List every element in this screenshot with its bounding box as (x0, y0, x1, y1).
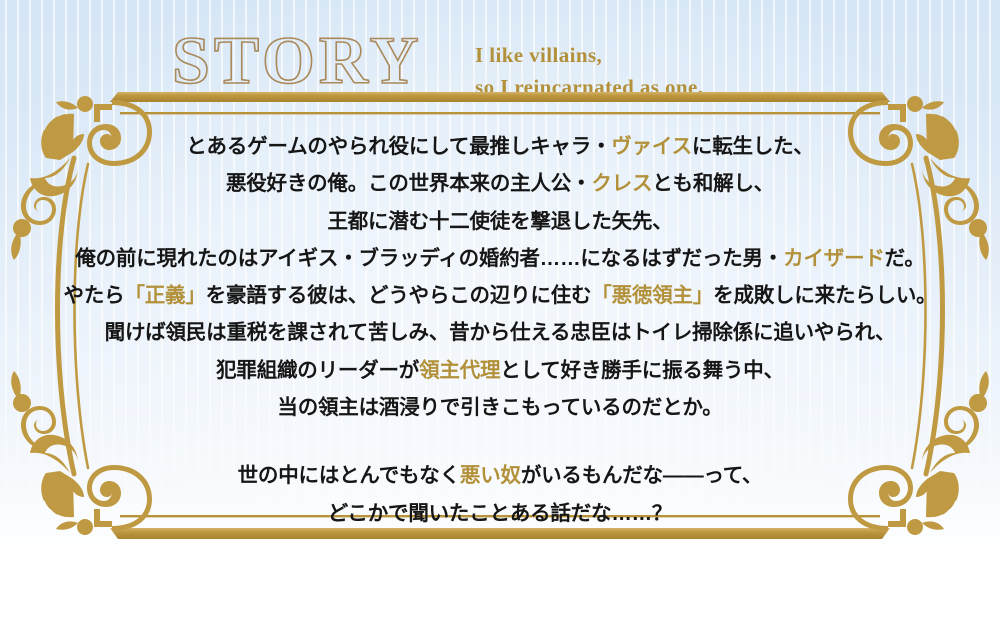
line-8: 当の領主は酒浸りで引きこもっているのだとか。 (60, 389, 940, 426)
line-3: 王都に潜む十二使徒を撃退した矢先、 (60, 203, 940, 240)
highlighted-term: 「正義」 (124, 284, 205, 307)
highlighted-term: 「悪徳領主」 (591, 284, 713, 307)
text-run: 悪役好きの俺。この世界本来の主人公・ (226, 172, 591, 195)
tagline-line-1: I like villains, (475, 40, 703, 72)
paragraph-spacer (60, 426, 940, 457)
story-panel: STORY I like villains, so I reincarnated… (0, 0, 1000, 635)
text-run: 聞けば領民は重税を課されて苦しみ、昔から仕える忠臣はトイレ掃除係に追いやられ、 (105, 321, 896, 344)
text-run: どこかで聞いたことある話だな……？ (328, 502, 672, 525)
text-run: 世の中にはとんでもなく (238, 464, 460, 487)
highlighted-term: カイザード (783, 247, 885, 270)
story-paragraph-1: とあるゲームのやられ役にして最推しキャラ・ヴァイスに転生した、悪役好きの俺。この… (60, 128, 940, 426)
text-run: やたら (64, 284, 125, 307)
text-run: 犯罪組織のリーダーが (216, 359, 419, 382)
line-9: 世の中にはとんでもなく悪い奴がいるもんだな――って、 (60, 457, 940, 494)
text-run: 王都に潜む十二使徒を撃退した矢先、 (327, 210, 672, 233)
highlighted-term: ヴァイス (611, 135, 692, 158)
text-run: を成敗しに来たらしい。 (713, 284, 936, 307)
text-run: がいるもんだな――って、 (521, 464, 763, 487)
line-5: やたら「正義」を豪語する彼は、どうやらこの辺りに住む「悪徳領主」を成敗しに来たら… (60, 277, 940, 314)
story-paragraph-2: 世の中にはとんでもなく悪い奴がいるもんだな――って、どこかで聞いたことある話だな… (60, 457, 940, 532)
highlighted-term: 悪い奴 (460, 464, 521, 487)
text-run: だ。 (885, 247, 925, 270)
line-4: 俺の前に現れたのはアイギス・ブラッディの婚約者……になるはずだった男・カイザード… (60, 240, 940, 277)
story-text: とあるゲームのやられ役にして最推しキャラ・ヴァイスに転生した、悪役好きの俺。この… (60, 128, 940, 532)
text-run: に転生した、 (692, 135, 814, 158)
highlighted-term: クレス (591, 172, 652, 195)
line-6: 聞けば領民は重税を課されて苦しみ、昔から仕える忠臣はトイレ掃除係に追いやられ、 (60, 314, 940, 351)
text-run: として好き勝手に振る舞う中、 (500, 359, 784, 382)
text-run: 俺の前に現れたのはアイギス・ブラッディの婚約者……になるはずだった男・ (75, 247, 783, 270)
text-run: とも和解し、 (652, 172, 774, 195)
text-run: とあるゲームのやられ役にして最推しキャラ・ (186, 135, 611, 158)
text-run: 当の領主は酒浸りで引きこもっているのだとか。 (277, 396, 722, 419)
highlighted-term: 領主代理 (419, 359, 500, 382)
line-10: どこかで聞いたことある話だな……？ (60, 495, 940, 532)
line-2: 悪役好きの俺。この世界本来の主人公・クレスとも和解し、 (60, 165, 940, 202)
line-1: とあるゲームのやられ役にして最推しキャラ・ヴァイスに転生した、 (60, 128, 940, 165)
line-7: 犯罪組織のリーダーが領主代理として好き勝手に振る舞う中、 (60, 352, 940, 389)
text-run: を豪語する彼は、どうやらこの辺りに住む (206, 284, 592, 307)
